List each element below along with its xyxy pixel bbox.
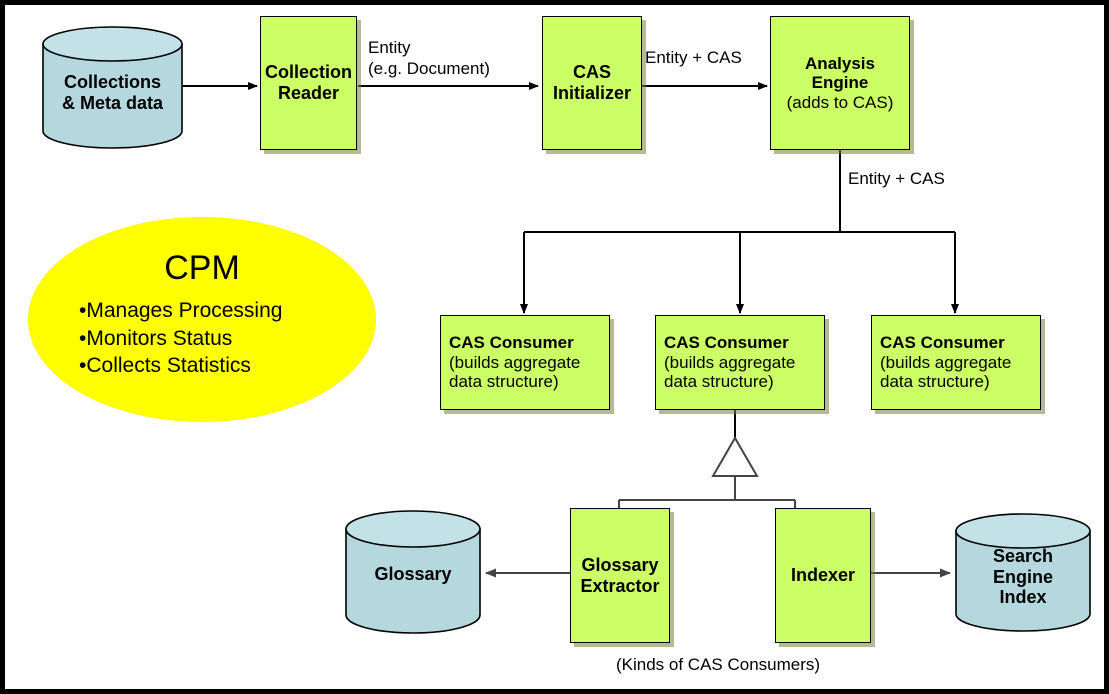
bottom-caption: (Kinds of CAS Consumers) <box>616 655 820 675</box>
analysis-engine-line1: Analysis <box>805 54 875 74</box>
edge-label-entity-cas-fork: Entity + CAS <box>848 168 945 189</box>
search-index-line3: Index <box>955 587 1091 608</box>
glossary-extractor-line2: Extractor <box>580 576 659 597</box>
edge-label-entity-cas-top: Entity + CAS <box>645 47 742 68</box>
datastore-collections-label: Collections & Meta data <box>42 72 183 113</box>
datastore-search-engine-index-label: Search Engine Index <box>955 546 1091 608</box>
process-collection-reader[interactable]: Collection Reader <box>260 16 357 150</box>
process-indexer[interactable]: Indexer <box>775 508 871 643</box>
cas-consumer-1-sub1: (builds aggregate <box>449 353 580 373</box>
cpm-bullet-2: •Collects Statistics <box>79 352 427 380</box>
datastore-collections[interactable]: Collections & Meta data <box>42 26 183 149</box>
diagram-canvas: Collections & Meta data Collection Reade… <box>0 0 1109 694</box>
generalization-triangle <box>713 438 757 476</box>
process-cas-consumer-1[interactable]: CAS Consumer (builds aggregate data stru… <box>440 315 610 410</box>
indexer-line1: Indexer <box>791 565 855 586</box>
edge-label-entity-document: Entity (e.g. Document) <box>368 37 490 80</box>
cas-consumer-3-sub2: data structure) <box>880 372 990 392</box>
edge-label-entity-line2: (e.g. Document) <box>368 58 490 79</box>
cpm-title: CPM <box>28 251 376 285</box>
datastore-search-engine-index[interactable]: Search Engine Index <box>955 513 1091 633</box>
cas-consumer-1-sub2: data structure) <box>449 372 559 392</box>
cas-consumer-2-title: CAS Consumer <box>664 333 789 353</box>
cpm-highlight-ellipse[interactable]: CPM •Manages Processing •Monitors Status… <box>28 217 376 422</box>
process-cas-consumer-3[interactable]: CAS Consumer (builds aggregate data stru… <box>871 315 1041 410</box>
collection-reader-line2: Reader <box>278 83 339 104</box>
cas-consumer-3-sub1: (builds aggregate <box>880 353 1011 373</box>
datastore-collections-line2: & Meta data <box>42 93 183 114</box>
cpm-bullet-0: •Manages Processing <box>79 297 427 325</box>
cpm-bullet-1: •Monitors Status <box>79 325 427 353</box>
search-index-line1: Search <box>955 546 1091 567</box>
collection-reader-line1: Collection <box>265 62 352 83</box>
cas-initializer-line1: CAS <box>573 62 611 83</box>
process-cas-initializer[interactable]: CAS Initializer <box>542 16 642 150</box>
cas-consumer-1-title: CAS Consumer <box>449 333 574 353</box>
datastore-collections-line1: Collections <box>42 72 183 93</box>
datastore-glossary[interactable]: Glossary <box>345 510 481 634</box>
glossary-extractor-line1: Glossary <box>581 555 658 576</box>
cpm-bullet-list: •Manages Processing •Monitors Status •Co… <box>28 297 427 380</box>
analysis-engine-line3: (adds to CAS) <box>787 93 894 113</box>
edge-label-entity-line1: Entity <box>368 37 490 58</box>
process-analysis-engine[interactable]: Analysis Engine (adds to CAS) <box>770 16 910 150</box>
cas-initializer-line2: Initializer <box>553 83 631 104</box>
datastore-glossary-label: Glossary <box>345 564 481 585</box>
analysis-engine-line2: Engine <box>812 73 869 93</box>
search-index-line2: Engine <box>955 567 1091 588</box>
cas-consumer-2-sub1: (builds aggregate <box>664 353 795 373</box>
process-cas-consumer-2[interactable]: CAS Consumer (builds aggregate data stru… <box>655 315 825 410</box>
edge-triangle-to-subfork <box>619 476 795 508</box>
cas-consumer-3-title: CAS Consumer <box>880 333 1005 353</box>
datastore-glossary-line1: Glossary <box>345 564 481 585</box>
process-glossary-extractor[interactable]: Glossary Extractor <box>570 508 670 643</box>
cas-consumer-2-sub2: data structure) <box>664 372 774 392</box>
